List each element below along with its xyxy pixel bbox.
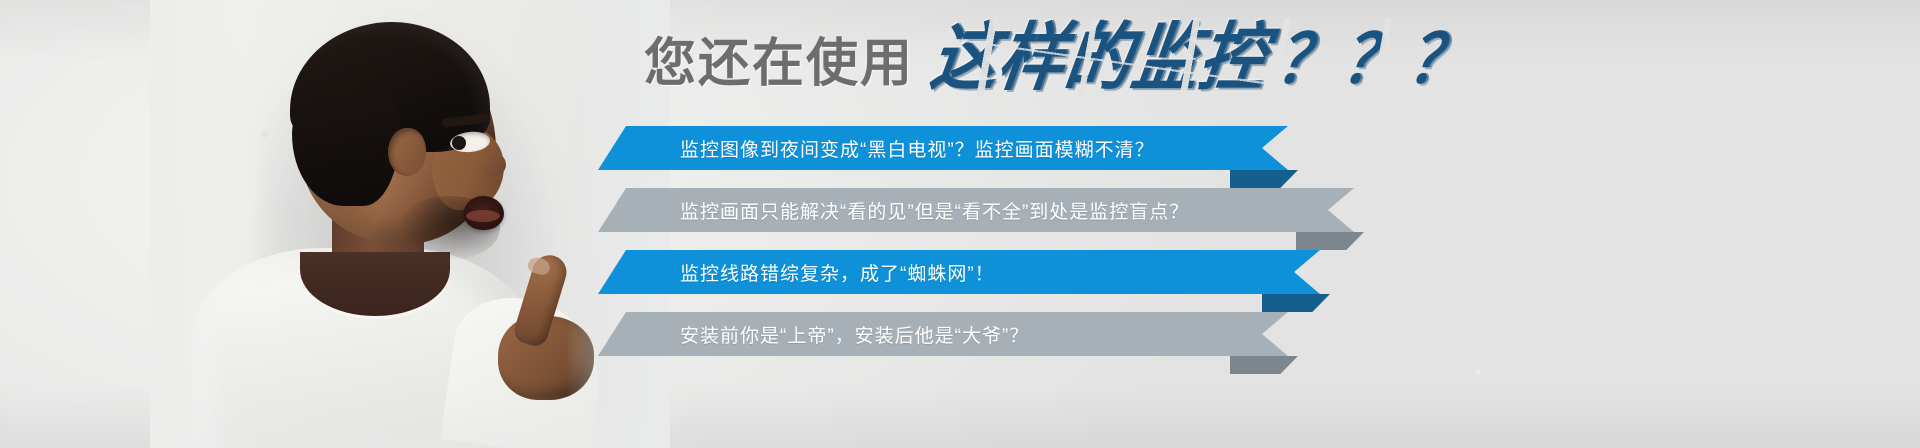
- banner-text-3: 监控线路错综复杂，成了“蜘蛛网”！: [680, 259, 995, 286]
- banner-fold-4: [1230, 356, 1298, 374]
- headline-accent-group: 这样的监控 ？？？: [932, 24, 1475, 90]
- headline-accent-text: 这样的监控: [927, 20, 1272, 94]
- banner-text-2: 监控画面只能解决“看的见”但是“看不全”到处是监控盲点？: [680, 197, 1189, 224]
- headline-plain-text: 您还在使用: [644, 38, 914, 90]
- headline: 您还在使用 这样的监控 ？？？: [644, 24, 1475, 90]
- banner-fold-1: [1230, 170, 1298, 188]
- banner-row-4[interactable]: 安装前你是“上帝”，安装后他是“大爷”？: [598, 312, 1288, 356]
- banner-text-4: 安装前你是“上帝”，安装后他是“大爷”？: [680, 321, 1029, 348]
- headline-question-marks: ？？？: [1272, 26, 1479, 93]
- banner-row-1[interactable]: 监控图像到夜间变成“黑白电视”？监控画面模糊不清？: [598, 126, 1288, 170]
- banner-stage: 您还在使用 这样的监控 ？？？ 监控图像到夜间变成“黑白电视”？监控画面模糊不清…: [0, 0, 1920, 448]
- banner-fold-3: [1262, 294, 1330, 312]
- banner-list: 监控图像到夜间变成“黑白电视”？监控画面模糊不清？ 监控画面只能解决“看的见”但…: [0, 112, 1920, 412]
- banner-row-3[interactable]: 监控线路错综复杂，成了“蜘蛛网”！: [598, 250, 1320, 294]
- banner-text-1: 监控图像到夜间变成“黑白电视”？监控画面模糊不清？: [680, 135, 1155, 162]
- banner-row-2[interactable]: 监控画面只能解决“看的见”但是“看不全”到处是监控盲点？: [598, 188, 1354, 232]
- banner-fold-2: [1296, 232, 1364, 250]
